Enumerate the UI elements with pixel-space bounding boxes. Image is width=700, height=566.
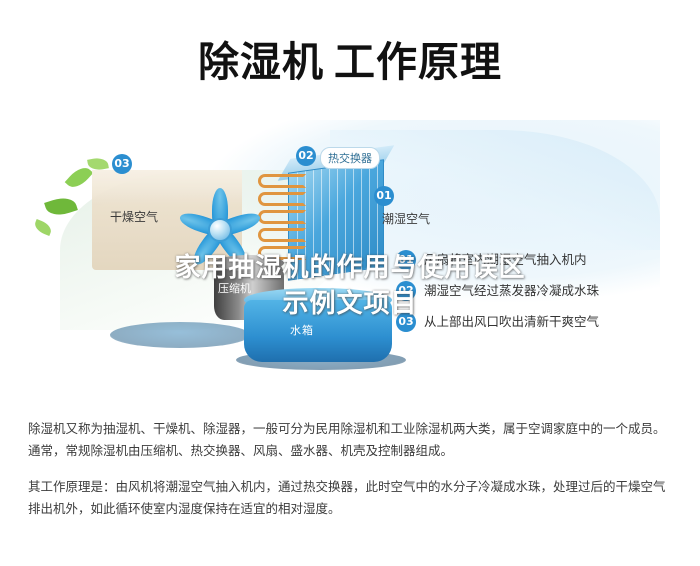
step-row: 01 风扇将室内潮湿空气抽入机内 xyxy=(396,250,696,281)
water-tank-label: 水箱 xyxy=(290,322,314,338)
badge-01-diagram: 01 xyxy=(374,186,394,206)
dehumidifier-principle-page: 除湿机工作原理 xyxy=(0,0,700,566)
fan-hub xyxy=(208,218,232,242)
badge-02-diagram: 02 xyxy=(296,146,316,166)
page-title: 除湿机工作原理 xyxy=(0,28,700,88)
step-row: 03 从上部出风口吹出清新干爽空气 xyxy=(396,312,696,343)
tag-heat-exchanger: 热交换器 xyxy=(320,147,380,169)
description-paragraph-2: 其工作原理是：由风机将潮湿空气抽入机内，通过热交换器，此时空气中的水分子冷凝成水… xyxy=(28,476,676,520)
step-badge: 03 xyxy=(396,312,416,332)
water-tank-body xyxy=(244,300,392,362)
principle-illustration: 水箱 03 干燥空气 02 热交换器 01 潮湿空气 压缩机 01 风扇将室内潮… xyxy=(0,110,700,395)
description-paragraph-1: 除湿机又称为抽湿机、干燥机、除湿器，一般可分为民用除湿机和工业除湿机两大类，属于… xyxy=(28,418,676,462)
step-text: 潮湿空气经过蒸发器冷凝成水珠 xyxy=(424,281,599,301)
step-badge: 01 xyxy=(396,250,416,270)
step-badge: 02 xyxy=(396,281,416,301)
label-humid-air: 潮湿空气 xyxy=(382,210,430,227)
description-text: 除湿机又称为抽湿机、干燥机、除湿器，一般可分为民用除湿机和工业除湿机两大类，属于… xyxy=(28,418,676,520)
step-caption-list: 01 风扇将室内潮湿空气抽入机内 02 潮湿空气经过蒸发器冷凝成水珠 03 从上… xyxy=(396,250,696,343)
label-dry-air: 干燥空气 xyxy=(110,208,158,225)
page-title-part1: 除湿机 xyxy=(198,38,324,86)
step-row: 02 潮湿空气经过蒸发器冷凝成水珠 xyxy=(396,281,696,312)
unit-base-shadow xyxy=(110,322,250,348)
label-compressor: 压缩机 xyxy=(218,280,251,296)
page-title-part2: 工作原理 xyxy=(334,38,502,86)
badge-03-diagram: 03 xyxy=(112,154,132,174)
step-text: 风扇将室内潮湿空气抽入机内 xyxy=(424,250,587,270)
step-text: 从上部出风口吹出清新干爽空气 xyxy=(424,312,599,332)
